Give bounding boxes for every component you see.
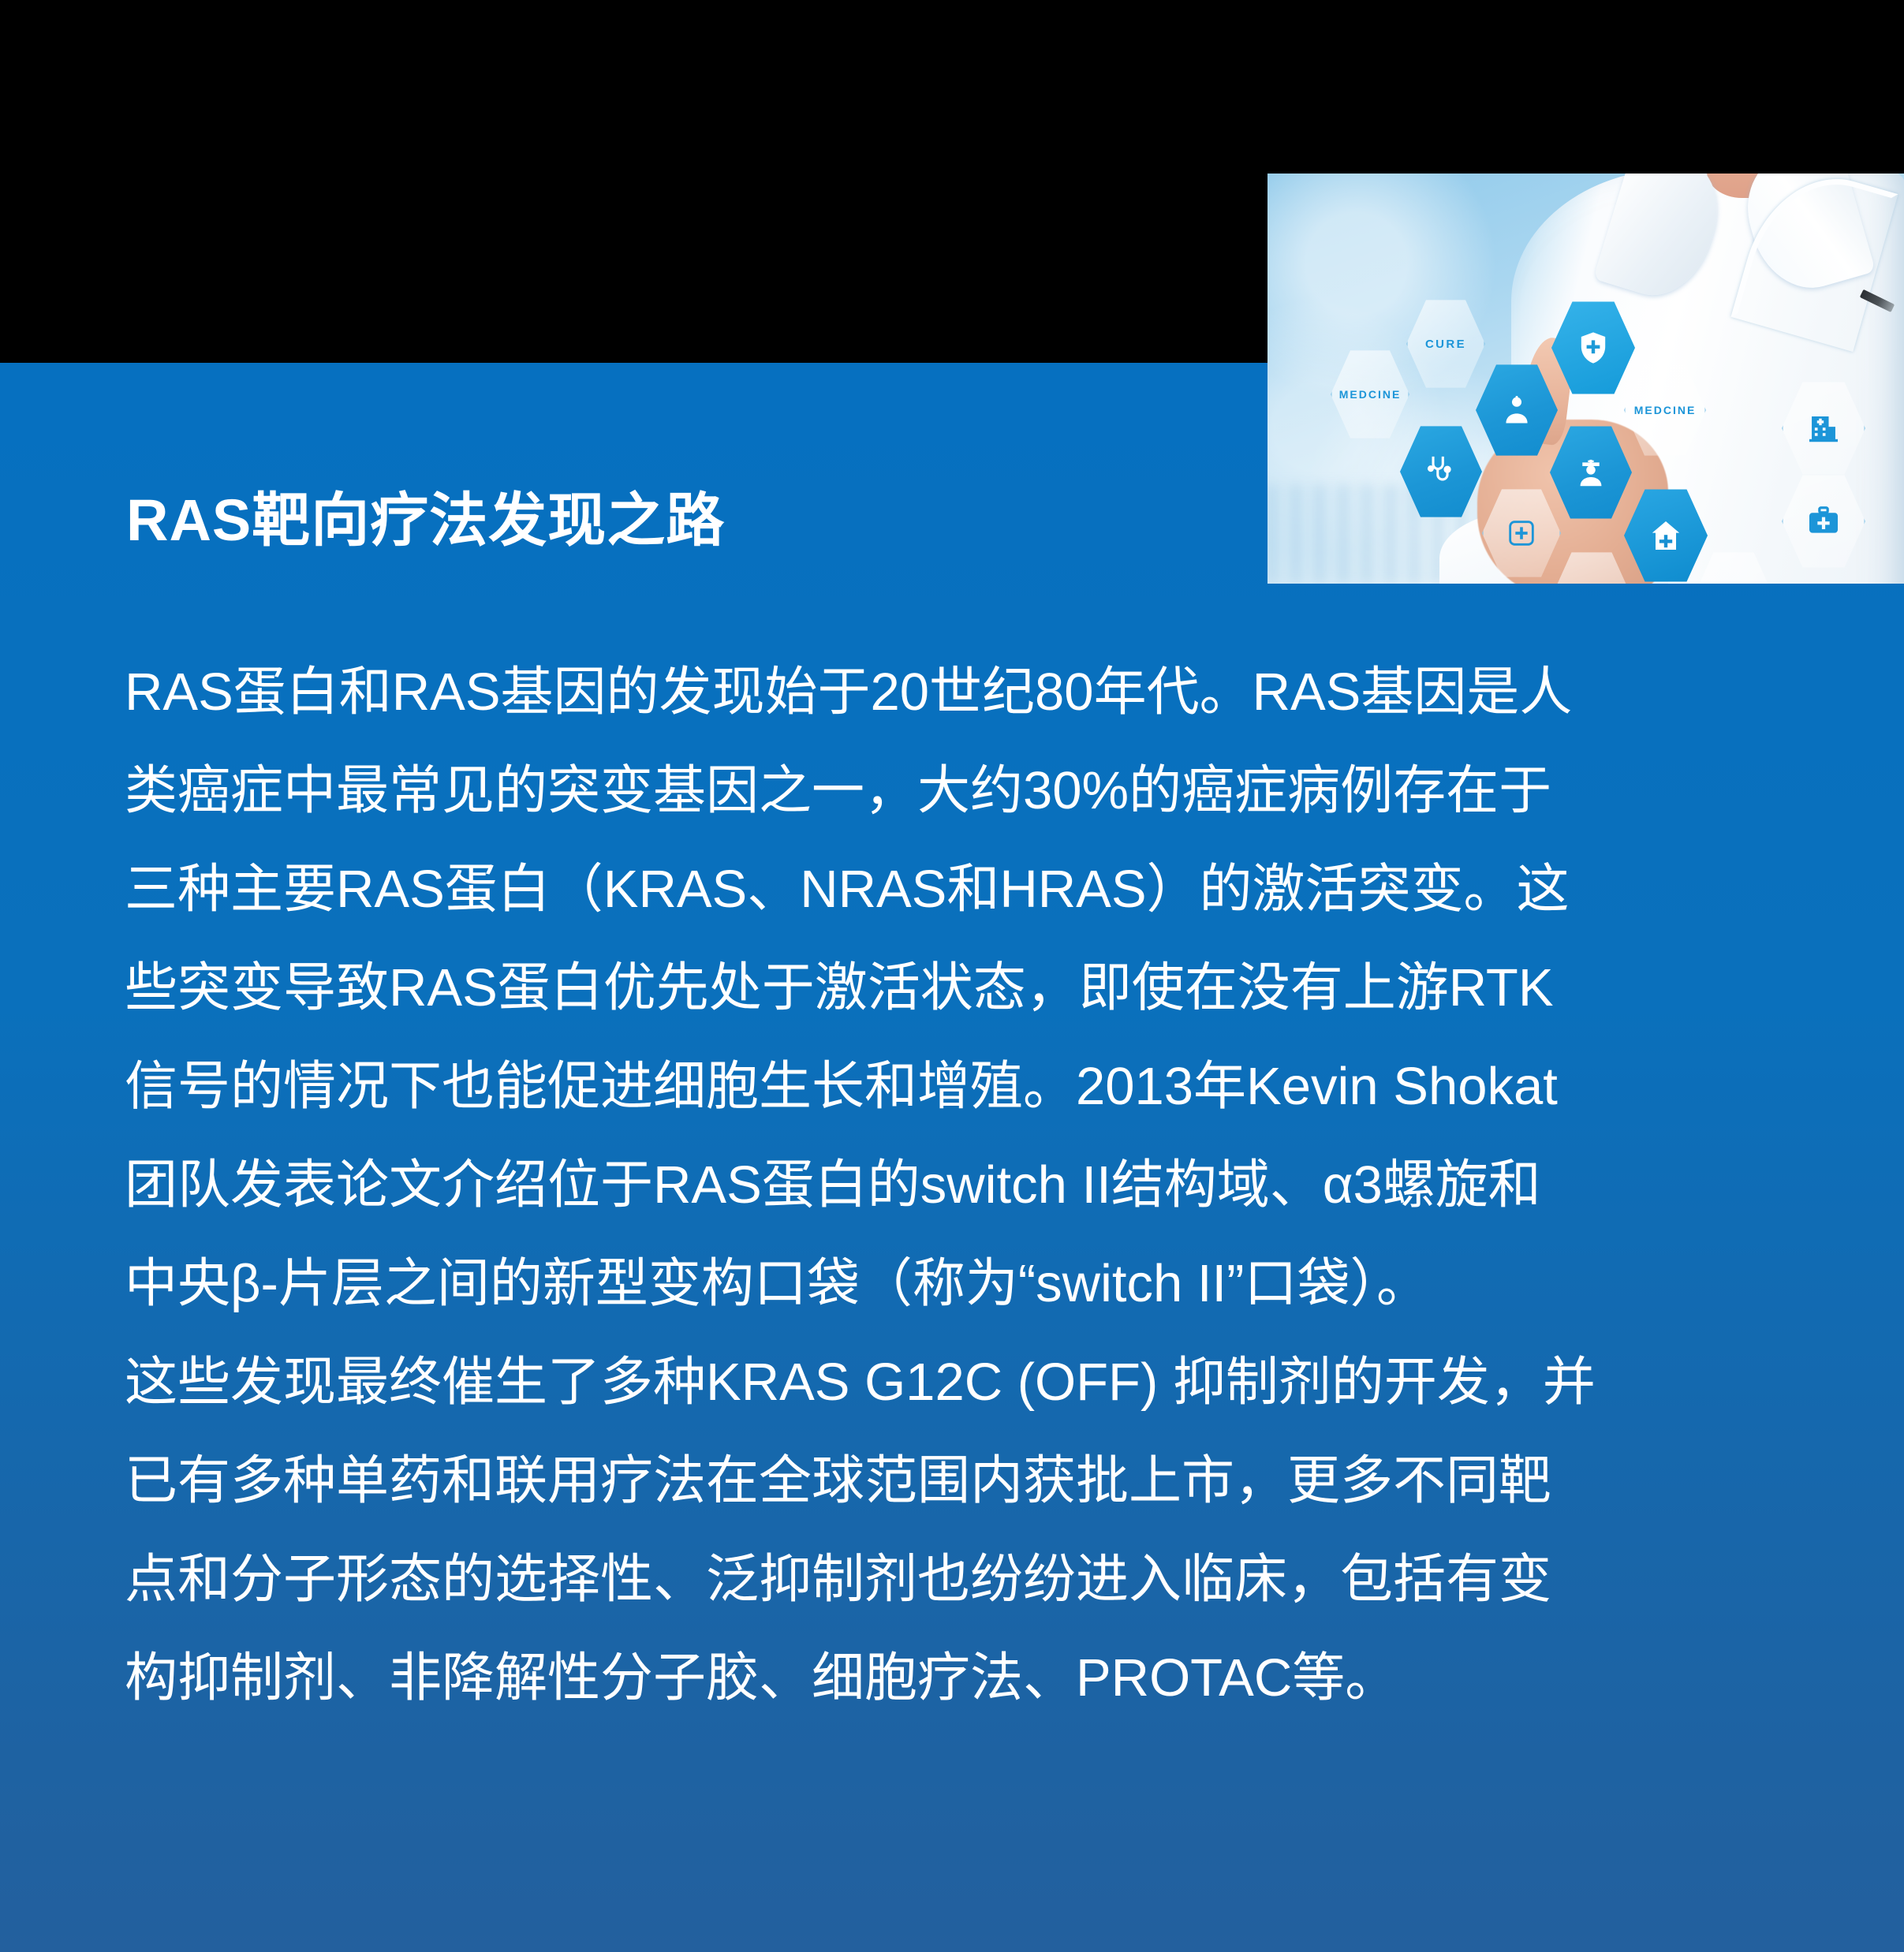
page-title: RAS靶向疗法发现之路	[126, 473, 725, 558]
medical-briefcase-icon	[1805, 503, 1842, 539]
nurse-icon	[1573, 454, 1609, 491]
poster-canvas: MEDCINE CURE	[0, 0, 1904, 1952]
article-line: 信号的情况下也能促进细胞生长和增殖。2013年Kevin Shokat	[125, 1037, 1789, 1136]
article-line: 构抑制剂、非降解性分子胶、细胞疗法、PROTAC等。	[125, 1629, 1789, 1727]
article-line: 点和分子形态的选择性、泛抑制剂也纷纷进入临床，包括有变	[125, 1530, 1789, 1629]
house-cross-icon	[1647, 517, 1685, 554]
article-line: 团队发表论文介绍位于RAS蛋白的switch II结构域、α3螺旋和	[125, 1136, 1789, 1234]
stethoscope-icon	[1423, 453, 1459, 490]
hex-tile-cure: CURE	[1406, 298, 1485, 390]
shield-cross-icon	[1574, 329, 1612, 367]
hands-cross-icon	[1716, 580, 1751, 584]
hero-image: MEDCINE CURE	[1267, 174, 1904, 584]
hospital-building-icon	[1805, 410, 1842, 446]
heart-cross-icon	[1574, 580, 1609, 584]
hex-tile-medcine-left: MEDCINE	[1331, 349, 1409, 440]
hex-label-cure: CURE	[1425, 338, 1466, 351]
article-line: RAS蛋白和RAS基因的发现始于20世纪80年代。RAS基因是人	[125, 643, 1789, 741]
article-line: 已有多种单药和联用疗法在全球范围内获批上市，更多不同靶	[125, 1431, 1789, 1530]
article-line: 些突变导致RAS蛋白优先处于激活状态，即使在没有上游RTK	[125, 939, 1789, 1037]
doctor-avatar-icon	[1499, 393, 1534, 427]
article-line: 类癌症中最常见的突变基因之一，大约30%的癌症病例存在于	[125, 741, 1789, 840]
article-body: RAS蛋白和RAS基因的发现始于20世纪80年代。RAS基因是人 类癌症中最常见…	[125, 643, 1789, 1727]
article-line: 中央β-片层之间的新型变构口袋（称为“switch II”口袋）。	[125, 1234, 1789, 1333]
article-line: 这些发现最终催生了多种KRAS G12C (OFF) 抑制剂的开发，并	[125, 1333, 1789, 1431]
article-line: 三种主要RAS蛋白（KRAS、NRAS和HRAS）的激活突变。这	[125, 840, 1789, 939]
cross-square-icon	[1506, 517, 1537, 549]
hex-label-medcine-left: MEDCINE	[1339, 388, 1402, 401]
hex-label-medcine-right: MEDCINE	[1634, 404, 1697, 416]
